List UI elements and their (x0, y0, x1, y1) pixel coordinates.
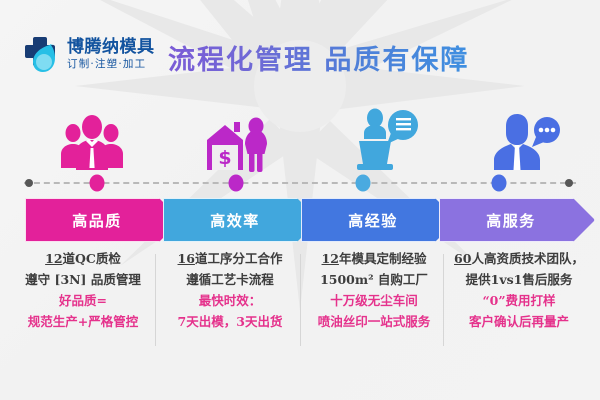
detail-line: 1500m² 自购工厂 (301, 269, 447, 290)
detail-line: 12年模具定制经验 (301, 248, 447, 269)
timeline-end-dot (565, 179, 573, 187)
step-arrow-1-label: 高品质 (72, 210, 122, 231)
detail-line: 12道QC质检 (10, 248, 156, 269)
highlighted-number: 60 (454, 251, 471, 266)
detail-line: 遵守 [3N] 品质管理 (10, 269, 156, 290)
poster-header: 博腾纳模具 订制·注塑·加工 流程化管理 品质有保障 (0, 0, 600, 96)
brand-logo: 博腾纳模具 订制·注塑·加工 (22, 33, 155, 75)
highlighted-number: 12 (45, 251, 62, 266)
detail-column-4: 60人高资质技术团队，提供1vs1售后服务“0”费用打样客户确认后再量产 (446, 248, 592, 332)
step-arrow-4[interactable]: 高服务 (439, 198, 595, 242)
icon-row: $ (0, 96, 600, 174)
step-arrow-1[interactable]: 高品质 (25, 198, 181, 242)
timeline-dot-4 (492, 175, 507, 192)
detail-column-1: 12道QC质检遵守 [3N] 品质管理好品质=规范生产+严格管控 (10, 248, 156, 332)
svg-text:$: $ (218, 147, 231, 169)
detail-line: 提供1vs1售后服务 (446, 269, 592, 290)
timeline (0, 172, 600, 194)
group-people-icon (22, 96, 162, 174)
detail-column-2: 16道工序分工合作遵循工艺卡流程最快时效：7天出模，3天出货 (157, 248, 303, 332)
detail-line: “0”费用打样 (446, 290, 592, 311)
detail-line: 好品质= (10, 290, 156, 311)
step-arrow-3-label: 高经验 (348, 210, 398, 231)
detail-line: 60人高资质技术团队， (446, 248, 592, 269)
timeline-dot-1 (90, 175, 105, 192)
step-banner: 高品质 高效率 高经验 高服务 (0, 198, 600, 242)
podium-speaker-icon (315, 96, 455, 174)
brand-tagline: 订制·注塑·加工 (67, 59, 155, 70)
page-title: 流程化管理 品质有保障 (168, 38, 469, 77)
detail-line: 7天出模，3天出货 (157, 311, 303, 332)
detail-line: 喷油丝印一站式服务 (301, 311, 447, 332)
detail-columns: 12道QC质检遵守 [3N] 品质管理好品质=规范生产+严格管控 16道工序分工… (0, 248, 600, 368)
botena-cross-swoosh-logo-icon (22, 33, 62, 75)
step-arrow-2-label: 高效率 (210, 210, 260, 231)
step-arrow-4-label: 高服务 (486, 210, 536, 231)
timeline-start-dot (25, 179, 33, 187)
highlighted-number: 12 (322, 251, 339, 266)
infographic-poster: 博腾纳模具 订制·注塑·加工 流程化管理 品质有保障 (0, 0, 600, 400)
step-arrow-3[interactable]: 高经验 (301, 198, 457, 242)
detail-line: 最快时效： (157, 290, 303, 311)
detail-line: 十万级无尘车间 (301, 290, 447, 311)
detail-line: 遵循工艺卡流程 (157, 269, 303, 290)
detail-line: 规范生产+严格管控 (10, 311, 156, 332)
timeline-dot-3 (356, 175, 371, 192)
brand-name: 博腾纳模具 (67, 39, 155, 56)
house-money-person-icon: $ (168, 96, 308, 174)
detail-line: 16道工序分工合作 (157, 248, 303, 269)
person-chat-bubble-icon (455, 96, 595, 174)
step-arrow-2[interactable]: 高效率 (163, 198, 319, 242)
highlighted-number: 16 (178, 251, 195, 266)
timeline-dot-2 (229, 175, 244, 192)
detail-line: 客户确认后再量产 (446, 311, 592, 332)
detail-column-3: 12年模具定制经验1500m² 自购工厂十万级无尘车间喷油丝印一站式服务 (301, 248, 447, 332)
